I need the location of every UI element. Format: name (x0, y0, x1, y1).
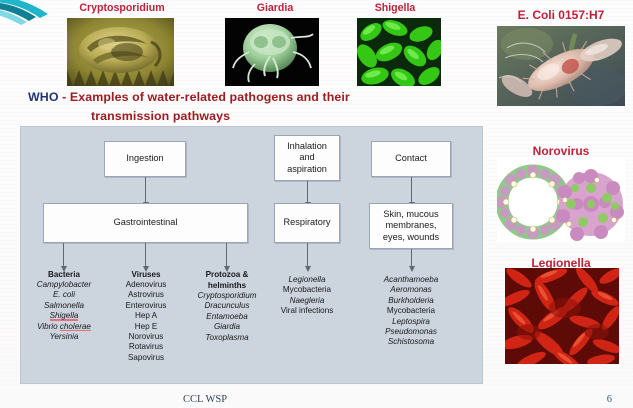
arrow-gi-to-viruses (145, 243, 146, 267)
node-inhalation-line1: Inhalation (287, 141, 327, 153)
arrow-ingestion-to-gastrointestinal (145, 177, 146, 203)
arrow-skin-to-list (411, 249, 412, 267)
organism: Astrovirus (128, 290, 164, 299)
footer-label: CCL WSP (183, 394, 227, 405)
organism: Hep E (135, 322, 158, 331)
thumbnail-label-giardia: Giardia (225, 2, 325, 14)
node-gastrointestinal-label: Gastrointestinal (114, 217, 178, 229)
organism: Giardia (214, 322, 240, 331)
organism: Burkholderia (388, 296, 433, 305)
arrow-contact-to-skin (411, 177, 412, 203)
thumbnail-label-ecoli: E. Coli 0157:H7 (492, 8, 630, 22)
thumbnail-image-norovirus (497, 158, 625, 242)
pathogen-list-viruses: Viruses Adenovirus Astrovirus Enteroviru… (105, 269, 187, 363)
organism: Viral infections (281, 306, 334, 315)
node-gastrointestinal[interactable]: Gastrointestinal (43, 203, 248, 243)
pathogen-list-respiratory: Legionella Mycobacteria Naegleria Viral … (265, 275, 349, 317)
organism: Acanthamoeba (384, 275, 438, 284)
organism: Sapovirus (128, 353, 164, 362)
page-number: 6 (607, 394, 612, 405)
organism: Rotavirus (129, 342, 163, 351)
thumbnail-image-legionella (505, 268, 619, 364)
slide-title-who: WHO (28, 90, 59, 104)
pathogen-list-skin-contact: Acanthamoeba Aeromonas Burkholderia Myco… (365, 275, 457, 348)
slide-footer (0, 386, 633, 408)
organism: Dracunculus (205, 301, 250, 310)
node-contact[interactable]: Contact (371, 141, 451, 177)
slide-title-line1: Examples of water-related pathogens and … (70, 90, 350, 104)
slide-title: WHO - Examples of water-related pathogen… (28, 88, 448, 126)
node-ingestion-label: Ingestion (126, 153, 163, 165)
organism: Hep A (135, 311, 157, 320)
node-skin-line1: Skin, mucous (383, 209, 438, 221)
organism-misspelled-token: cholerae (60, 322, 91, 332)
organism: Norovirus (129, 332, 164, 341)
pathogen-group-header-protozoa-line1: Protozoa & (185, 269, 269, 280)
node-respiratory-label: Respiratory (284, 217, 331, 229)
organism: E. coli (53, 290, 75, 299)
node-inhalation-line2: and (299, 152, 314, 164)
node-respiratory[interactable]: Respiratory (274, 203, 340, 243)
pathogen-group-header-viruses: Viruses (105, 269, 187, 280)
organism: Cryptosporidium (198, 291, 257, 300)
node-skin-line2: membranes, (385, 220, 436, 232)
organism: Shigella (50, 311, 79, 321)
thumbnail-image-shigella (357, 18, 441, 86)
node-contact-label: Contact (395, 153, 427, 165)
arrow-inhalation-to-respiratory (307, 181, 308, 203)
organism: Naegleria (290, 296, 325, 305)
organism: Salmonella (44, 301, 84, 310)
pathogen-list-bacteria: Bacteria Campylobacter E. coli Salmonell… (23, 269, 105, 342)
thumbnail-label-norovirus: Norovirus (492, 144, 630, 158)
organism: Adenovirus (126, 280, 167, 289)
organism: Entamoeba (206, 312, 247, 321)
thumbnail-label-cryptosporidium: Cryptosporidium (52, 2, 192, 14)
slide-title-dash: - (62, 90, 66, 104)
thumbnail-image-ecoli (497, 26, 625, 106)
organism: Yersinia (50, 332, 79, 341)
node-skin-mucous-membranes[interactable]: Skin, mucous membranes, eyes, wounds (369, 203, 453, 249)
organism: Toxoplasma (205, 333, 248, 342)
organism: Mycobacteria (283, 285, 331, 294)
node-ingestion[interactable]: Ingestion (104, 141, 186, 177)
pathogen-group-header-protozoa-line2: helminths (185, 280, 269, 291)
pathogen-list-protozoa-helminths: Protozoa & helminths Cryptosporidium Dra… (185, 269, 269, 343)
thumbnail-image-cryptosporidium (67, 18, 174, 86)
thumbnail-label-shigella: Shigella (350, 2, 440, 14)
organism: Pseudomonas (385, 327, 437, 336)
slide-title-line2: transmission pathways (28, 107, 448, 126)
node-skin-line3: eyes, wounds (383, 232, 439, 244)
node-inhalation-aspiration[interactable]: Inhalation and aspiration (274, 135, 340, 181)
organism: Campylobacter (37, 280, 91, 289)
node-inhalation-line3: aspiration (287, 164, 327, 176)
organism: Enterovirus (126, 301, 167, 310)
organism: Aeromonas (390, 285, 431, 294)
organism: Vibrio cholerae (37, 322, 91, 332)
arrow-gi-to-protozoa (226, 243, 227, 267)
organism: Leptospira (392, 317, 430, 326)
organism: Legionella (289, 275, 326, 284)
arrow-gi-to-bacteria (63, 243, 64, 267)
arrow-respiratory-to-list (307, 243, 308, 267)
pathogen-group-header-bacteria: Bacteria (23, 269, 105, 280)
transmission-pathway-diagram: Ingestion Inhalation and aspiration Cont… (20, 126, 483, 384)
organism: Schistosoma (388, 337, 434, 346)
thumbnail-image-giardia (225, 18, 319, 86)
organism: Mycobacteria (387, 306, 435, 315)
